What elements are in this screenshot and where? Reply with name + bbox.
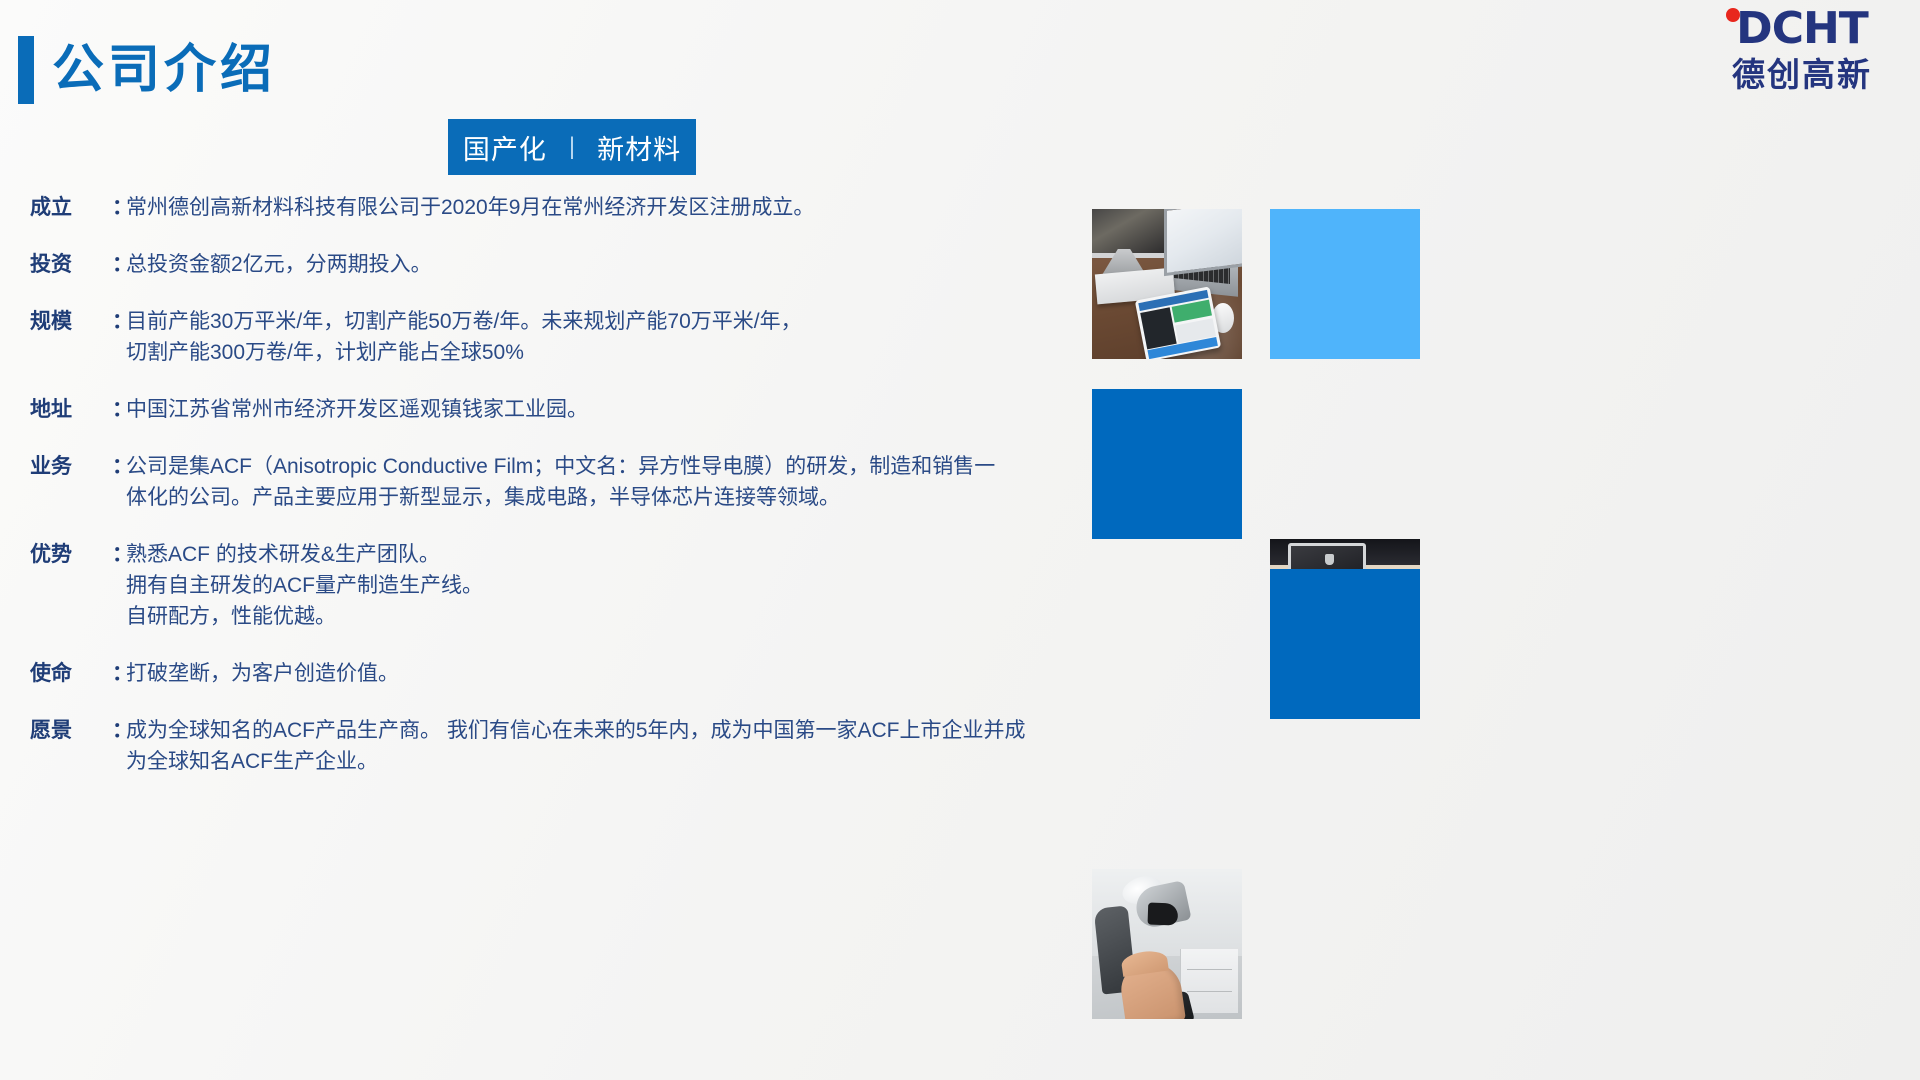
info-row-label: 优势 [30, 539, 112, 570]
info-row-colon: ： [112, 715, 126, 746]
logo-latin-text: DCHT [1736, 3, 1868, 54]
page-title: 公司介绍 [52, 36, 276, 104]
info-row-colon: ： [112, 658, 126, 689]
info-row-label: 业务 [30, 451, 112, 482]
info-row: 成立：常州德创高新材料科技有限公司于2020年9月在常州经济开发区注册成立。 [30, 192, 1090, 223]
info-row-text: 打破垄断，为客户创造价值。 [126, 658, 1090, 689]
info-row-text: 目前产能30万平米/年，切割产能50万卷/年。未来规划产能70万平米/年， 切割… [126, 306, 1090, 368]
tagline-banner: 国产化 | 新材料 [448, 119, 696, 175]
info-row-colon: ： [112, 394, 126, 425]
info-row-text: 熟悉ACF 的技术研发&生产团队。 拥有自主研发的ACF量产制造生产线。 自研配… [126, 539, 1090, 632]
info-row-colon: ： [112, 192, 126, 223]
light-blue-tile [1270, 209, 1420, 359]
image-grid [1092, 209, 1422, 719]
hand-shape [1118, 959, 1186, 1019]
info-row-text: 公司是集ACF（Anisotropic Conductive Film；中文名：… [126, 451, 1090, 513]
medical-robot-photo [1092, 869, 1242, 1019]
info-row-colon: ： [112, 249, 126, 280]
logo-red-dot-icon [1726, 8, 1740, 22]
info-row-label: 规模 [30, 306, 112, 337]
info-row-label: 成立 [30, 192, 112, 223]
info-row-colon: ： [112, 306, 126, 337]
banner-label-right: 新材料 [597, 128, 681, 167]
info-row: 业务：公司是集ACF（Anisotropic Conductive Film；中… [30, 451, 1090, 513]
company-logo: DCHT 德创高新 [1706, 6, 1898, 106]
title-accent-bar [18, 36, 34, 104]
info-row: 投资：总投资金额2亿元，分两期投入。 [30, 249, 1090, 280]
info-row-text: 常州德创高新材料科技有限公司于2020年9月在常州经济开发区注册成立。 [126, 192, 1090, 223]
logo-wordmark: DCHT [1706, 6, 1898, 52]
logo-chinese-text: 德创高新 [1706, 54, 1898, 96]
info-row: 地址：中国江苏省常州市经济开发区遥观镇钱家工业园。 [30, 394, 1090, 425]
info-row-label: 愿景 [30, 715, 112, 746]
info-row-label: 投资 [30, 249, 112, 280]
banner-label-left: 国产化 [463, 128, 547, 167]
info-row: 优势：熟悉ACF 的技术研发&生产团队。 拥有自主研发的ACF量产制造生产线。 … [30, 539, 1090, 632]
dark-blue-tile-2 [1270, 569, 1420, 719]
info-row-colon: ： [112, 451, 126, 482]
info-row-label: 地址 [30, 394, 112, 425]
company-info-list: 成立：常州德创高新材料科技有限公司于2020年9月在常州经济开发区注册成立。投资… [30, 192, 1090, 803]
desk-workspace-photo [1092, 209, 1242, 359]
info-row-text: 中国江苏省常州市经济开发区遥观镇钱家工业园。 [126, 394, 1090, 425]
info-row-colon: ： [112, 539, 126, 570]
info-row-text: 总投资金额2亿元，分两期投入。 [126, 249, 1090, 280]
info-row: 使命：打破垄断，为客户创造价值。 [30, 658, 1090, 689]
info-row-text: 成为全球知名的ACF产品生产商。 我们有信心在未来的5年内，成为中国第一家ACF… [126, 715, 1090, 777]
tablet-shape [1135, 286, 1221, 359]
dark-blue-tile [1092, 389, 1242, 539]
banner-separator: | [569, 135, 575, 159]
info-row: 愿景：成为全球知名的ACF产品生产商。 我们有信心在未来的5年内，成为中国第一家… [30, 715, 1090, 777]
info-row-label: 使命 [30, 658, 112, 689]
info-row: 规模：目前产能30万平米/年，切割产能50万卷/年。未来规划产能70万平米/年，… [30, 306, 1090, 368]
